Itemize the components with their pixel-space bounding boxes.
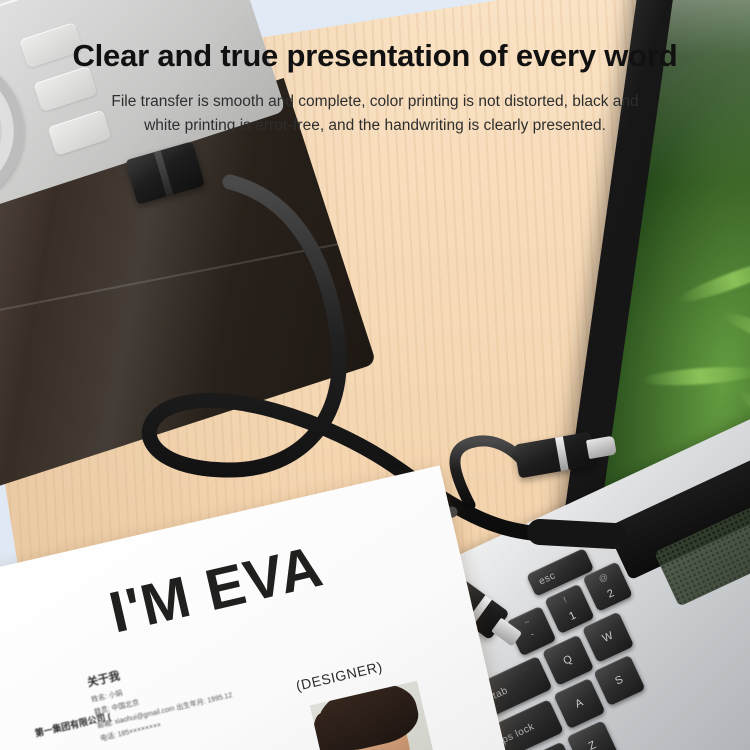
- subtitle-line-2: white printing is error-free, and the ha…: [0, 114, 750, 138]
- adapter-silver-band: [555, 436, 569, 471]
- cable-branch-micro-usb: [455, 441, 520, 505]
- page-subtitle: File transfer is smooth and complete, co…: [0, 90, 750, 139]
- cable-main-run: [149, 182, 540, 534]
- subtitle-line-1: File transfer is smooth and complete, co…: [0, 90, 750, 114]
- product-banner: esc~`!1@2tabQWcaps lockASshiftZ: [0, 0, 750, 750]
- usb-c-head: [540, 532, 614, 536]
- page-title: Clear and true presentation of every wor…: [0, 38, 750, 74]
